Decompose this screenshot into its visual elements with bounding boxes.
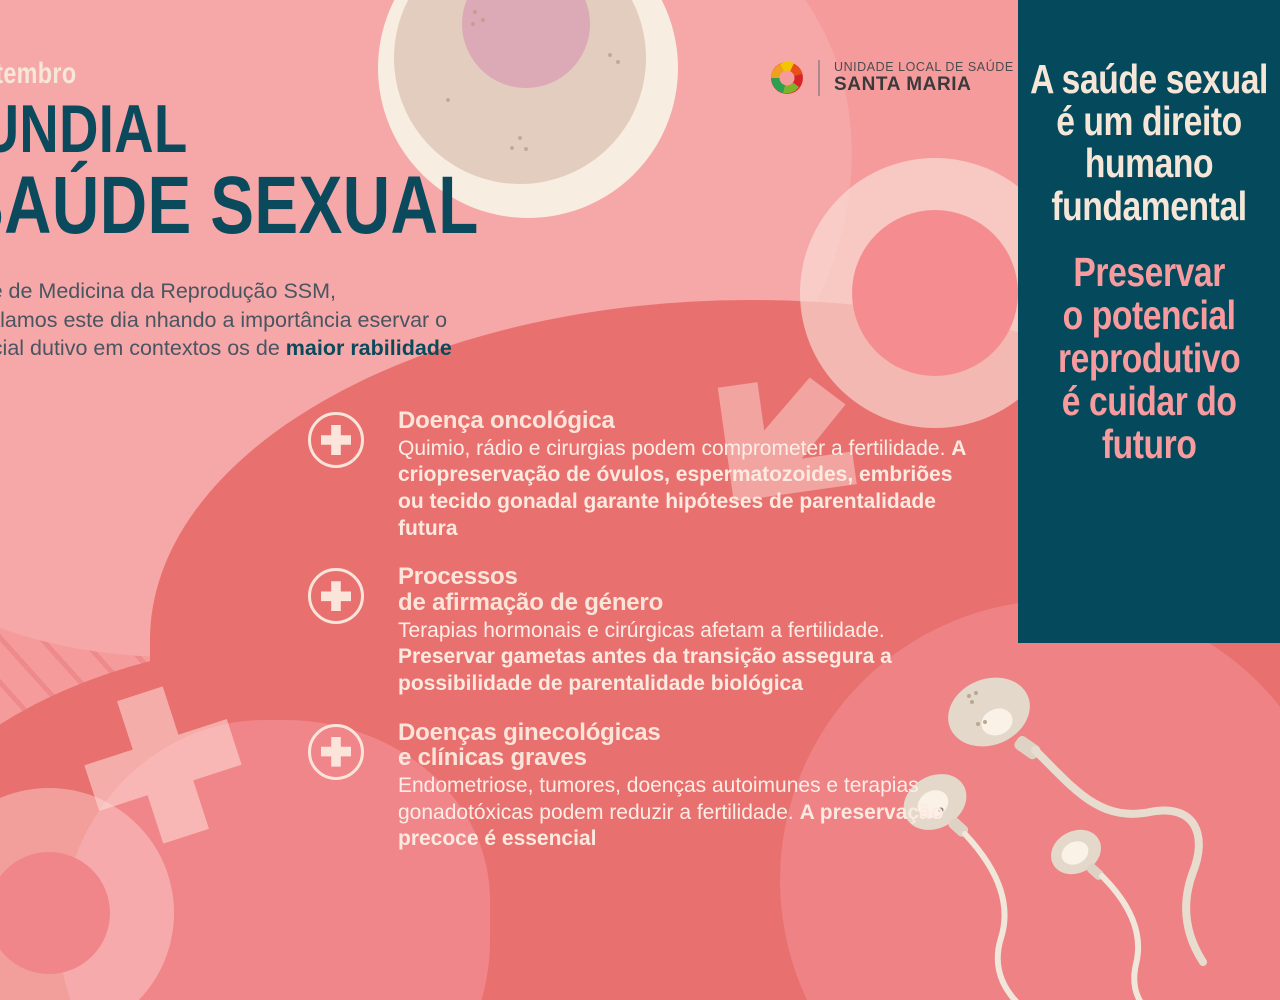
sperm-cell-3-svg bbox=[1040, 820, 1250, 1000]
ulss-circular-logo-icon bbox=[770, 61, 804, 95]
kicker-label: Setembro bbox=[0, 57, 76, 91]
info-block-list: Doença oncológica Quimio, rádio e cirurg… bbox=[308, 408, 968, 875]
sperm-cell-3 bbox=[1040, 820, 1250, 1000]
ulss-logo-svg bbox=[770, 61, 804, 95]
logo-line2: SANTA MARIA bbox=[834, 74, 1014, 95]
ovum-speck bbox=[518, 136, 522, 140]
info-block: Processosde afirmação de género Terapias… bbox=[308, 564, 968, 697]
info-block-body: Quimio, rádio e cirurgias podem comprome… bbox=[398, 436, 968, 543]
logo-line1: UNIDADE LOCAL DE SAÚDE bbox=[834, 60, 1014, 74]
panel-subline: Preservaro potencialreprodutivoé cuidar … bbox=[1058, 251, 1240, 466]
info-block-title: Doença oncológica bbox=[398, 408, 968, 434]
teal-statement-panel: A saúde sexualé um direitohumanofundamen… bbox=[1018, 0, 1280, 643]
ovum-speck bbox=[481, 18, 485, 22]
info-block-body: Endometriose, tumores, doenças autoimune… bbox=[398, 773, 968, 853]
medical-cross-glyph bbox=[321, 581, 351, 611]
logo-divider bbox=[818, 60, 820, 96]
info-block-title: Doenças ginecológicase clínicas graves bbox=[398, 720, 968, 771]
medical-cross-icon bbox=[308, 568, 364, 624]
info-block-body-plain: Terapias hormonais e cirúrgicas afetam a… bbox=[398, 619, 885, 642]
ovum-ring-hole bbox=[852, 210, 1018, 376]
medical-cross-glyph bbox=[321, 737, 351, 767]
panel-headline: A saúde sexualé um direitohumanofundamen… bbox=[1030, 58, 1268, 227]
info-block: Doença oncológica Quimio, rádio e cirurg… bbox=[308, 408, 968, 542]
ovum-speck bbox=[616, 60, 620, 64]
ovum-speck bbox=[471, 22, 475, 26]
medical-cross-glyph bbox=[321, 425, 351, 455]
info-block: Doenças ginecológicase clínicas graves E… bbox=[308, 720, 968, 853]
medical-cross-icon bbox=[308, 724, 364, 780]
ovum-speck bbox=[510, 146, 514, 150]
page-title-line2: SAÚDE SEXUAL bbox=[0, 165, 479, 247]
medical-cross-icon bbox=[308, 412, 364, 468]
info-block-body-bold: Preservar gametas antes da transição ass… bbox=[398, 645, 892, 695]
ovum-speck bbox=[608, 53, 612, 57]
info-block-body-plain: Quimio, rádio e cirurgias podem comprome… bbox=[398, 437, 951, 460]
page-title-line1: MUNDIAL bbox=[0, 95, 188, 163]
ovum-speck bbox=[524, 147, 528, 151]
poster-canvas: Setembro MUNDIAL SAÚDE SEXUAL nidade de … bbox=[0, 0, 1280, 1000]
intro-paragraph: nidade de Medicina da Reprodução SSM, as… bbox=[0, 277, 458, 363]
info-block-body: Terapias hormonais e cirúrgicas afetam a… bbox=[398, 618, 968, 698]
ovum-speck bbox=[446, 98, 450, 102]
intro-paragraph-bold: maior rabilidade bbox=[286, 336, 452, 360]
logo-text: UNIDADE LOCAL DE SAÚDE SANTA MARIA bbox=[834, 60, 1014, 95]
ulss-logo: UNIDADE LOCAL DE SAÚDE SANTA MARIA bbox=[770, 60, 1014, 96]
info-block-title: Processosde afirmação de género bbox=[398, 564, 968, 615]
ovum-speck bbox=[473, 10, 477, 14]
